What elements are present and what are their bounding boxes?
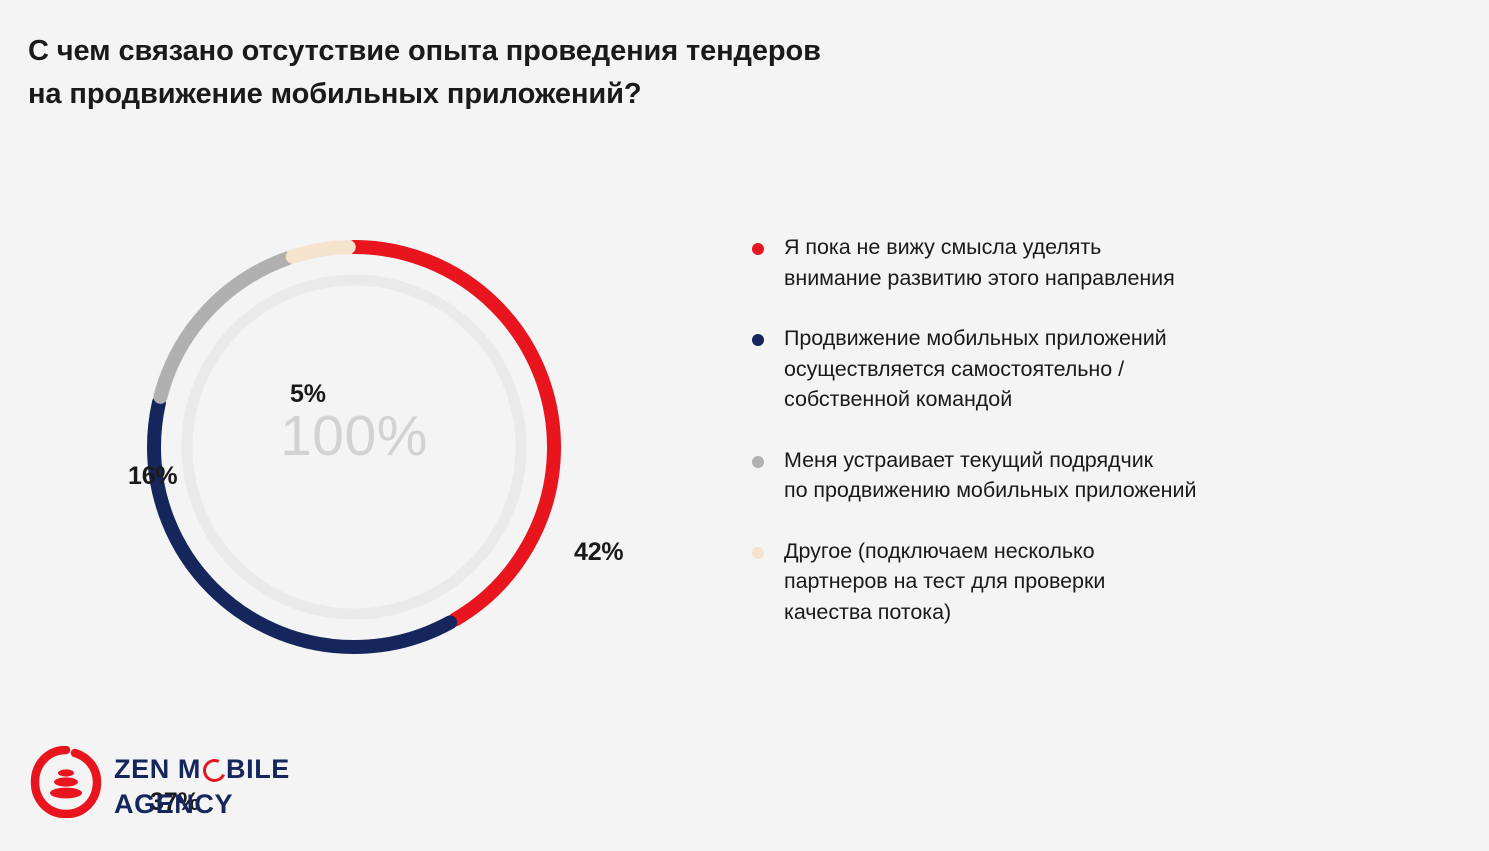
legend-item-2[interactable]: Меня устраивает текущий подрядчик по про… bbox=[752, 445, 1452, 506]
donut-center-total: 100% bbox=[254, 408, 454, 465]
legend-bullet-icon bbox=[752, 547, 764, 559]
brand-logo: ZEN MBILE AGENCY bbox=[30, 742, 350, 832]
legend-bullet-icon bbox=[752, 243, 764, 255]
logo-line-1: ZEN MBILE bbox=[114, 752, 290, 787]
donut-chart: 100% 42% 37% 16% 5% bbox=[104, 190, 724, 710]
logo-wordmark: ZEN MBILE AGENCY bbox=[114, 752, 290, 821]
legend-bullet-icon bbox=[752, 334, 764, 346]
legend-item-label: Продвижение мобильных приложений осущест… bbox=[784, 326, 1167, 411]
segment-label-cream: 5% bbox=[290, 380, 326, 409]
legend-item-1[interactable]: Продвижение мобильных приложений осущест… bbox=[752, 323, 1452, 415]
legend-item-3[interactable]: Другое (подключаем несколько партнеров н… bbox=[752, 536, 1452, 628]
legend-item-0[interactable]: Я пока не вижу смысла уделять внимание р… bbox=[752, 232, 1452, 293]
logo-text-zen-m: ZEN M bbox=[114, 754, 201, 784]
stone-top bbox=[58, 769, 74, 776]
enso-circle-icon bbox=[30, 746, 102, 818]
segment-label-red: 42% bbox=[574, 538, 623, 567]
chart-legend: Я пока не вижу смысла уделять внимание р… bbox=[752, 232, 1452, 627]
stone-middle bbox=[54, 777, 78, 786]
segment-label-gray: 16% bbox=[128, 462, 177, 491]
logo-text-bile: BILE bbox=[226, 754, 290, 784]
stone-bottom bbox=[50, 788, 82, 799]
logo-line-2: AGENCY bbox=[114, 787, 290, 822]
logo-enso-o-icon bbox=[202, 758, 225, 781]
page-title: С чем связано отсутствие опыта проведени… bbox=[28, 30, 1128, 116]
legend-item-label: Другое (подключаем несколько партнеров н… bbox=[784, 539, 1105, 624]
legend-item-label: Я пока не вижу смысла уделять внимание р… bbox=[784, 235, 1175, 290]
legend-item-label: Меня устраивает текущий подрядчик по про… bbox=[784, 448, 1196, 503]
legend-bullet-icon bbox=[752, 456, 764, 468]
